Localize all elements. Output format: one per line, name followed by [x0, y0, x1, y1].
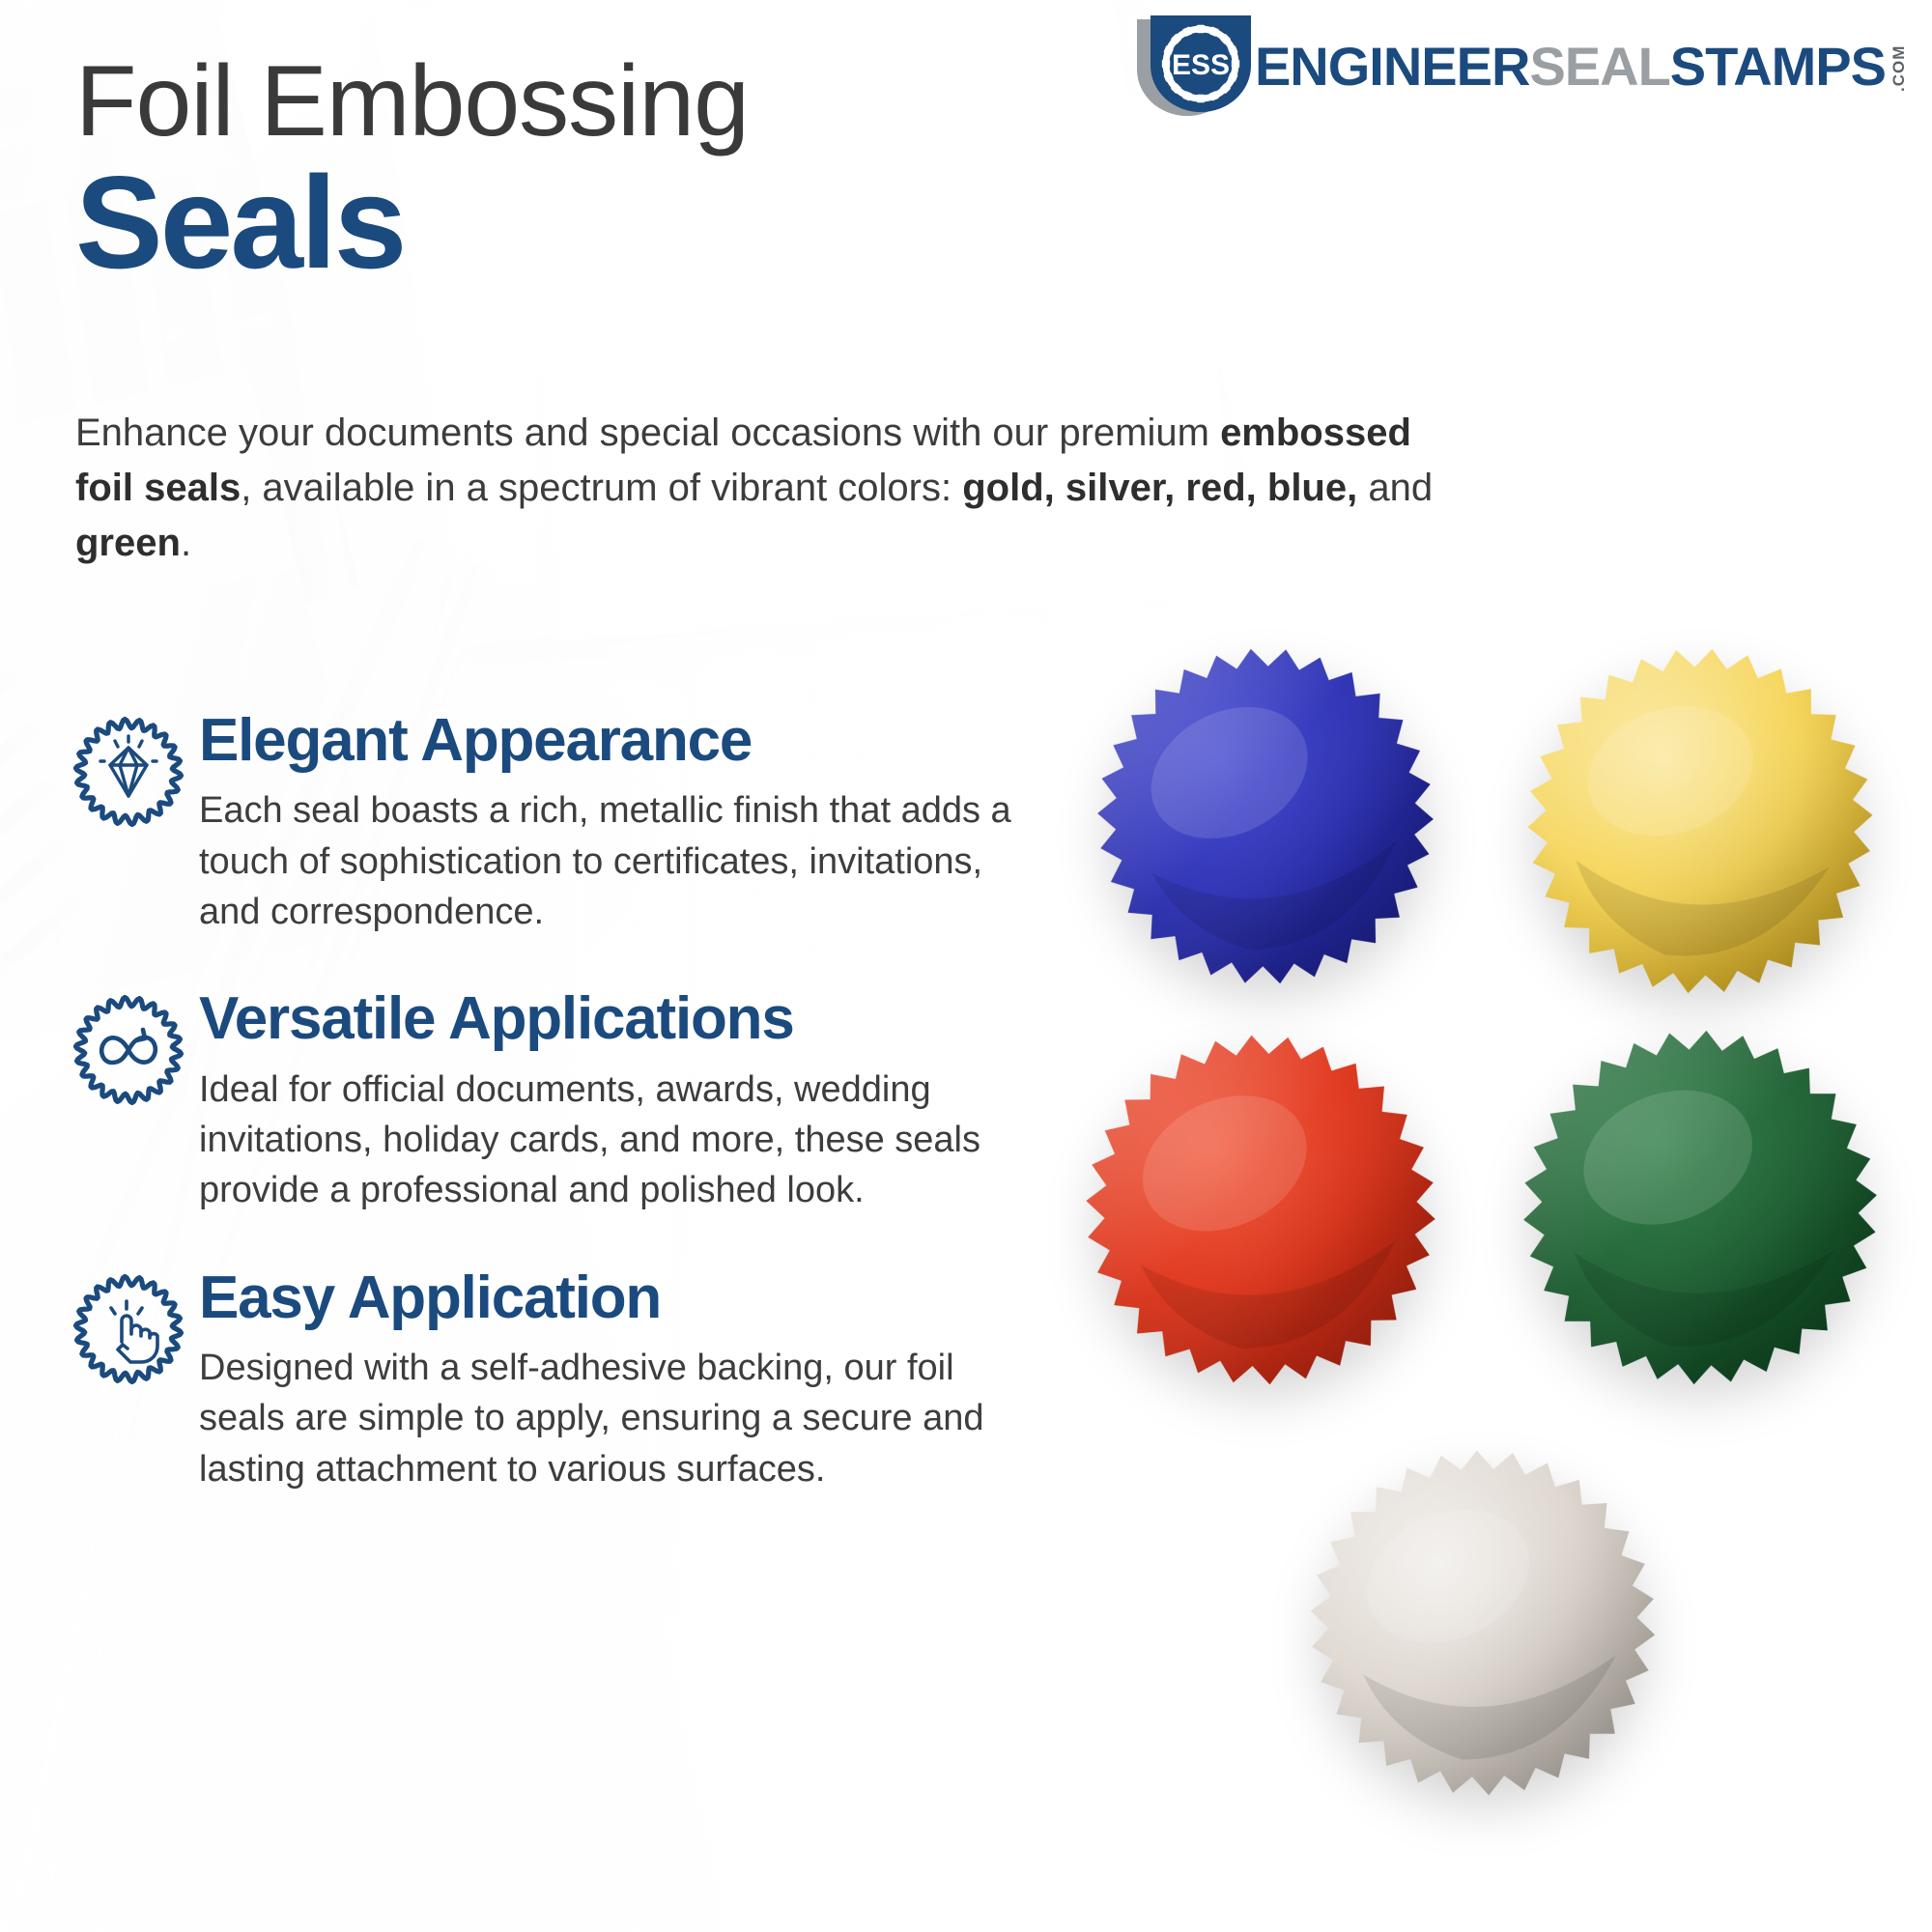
- feature-item: Easy ApplicationDesigned with a self-adh…: [68, 1263, 1063, 1494]
- seal-gallery: [1053, 638, 1922, 1855]
- feature-title: Easy Application: [199, 1266, 1049, 1329]
- intro-text-part-2: , available in a spectrum of vibrant col…: [241, 467, 962, 509]
- feature-body: Elegant AppearanceEach seal boasts a ric…: [199, 705, 1049, 937]
- intro-text-part-1: Enhance your documents and special occas…: [75, 412, 1220, 454]
- feature-body: Versatile ApplicationsIdeal for official…: [199, 983, 1049, 1215]
- infographic-page: ESS ENGINEER SEAL STAMPS .COM Foil Embos…: [0, 0, 1932, 1932]
- logo-word-engineer: ENGINEER: [1255, 40, 1530, 94]
- feature-title: Versatile Applications: [199, 987, 1049, 1050]
- intro-text-part-3: and: [1357, 467, 1433, 509]
- title-line-1: Foil Embossing: [75, 50, 749, 153]
- seal-silver[interactable]: [1288, 1433, 1677, 1812]
- feature-list: Elegant AppearanceEach seal boasts a ric…: [68, 705, 1063, 1494]
- feature-item: Elegant AppearanceEach seal boasts a ric…: [68, 705, 1063, 937]
- seal-red[interactable]: [1063, 1014, 1459, 1406]
- tap-hand-icon: [68, 1268, 189, 1390]
- feature-body: Easy ApplicationDesigned with a self-adh…: [199, 1263, 1049, 1494]
- intro-paragraph: Enhance your documents and special occas…: [75, 406, 1447, 570]
- infinity-loop-icon: [68, 989, 189, 1111]
- ess-shield-logo-icon: ESS: [1137, 15, 1253, 118]
- diamond-icon: [68, 711, 189, 833]
- feature-item: Versatile ApplicationsIdeal for official…: [68, 983, 1063, 1215]
- logo-word-stamps: STAMPS: [1670, 40, 1886, 94]
- logo-tld: .COM: [1889, 42, 1909, 92]
- intro-emphasis-colors-b: green: [75, 522, 181, 564]
- intro-emphasis-colors-a: gold, silver, red, blue,: [962, 467, 1357, 509]
- title-line-2: Seals: [75, 156, 749, 288]
- logo-badge-text: ESS: [1172, 49, 1230, 81]
- shield-front-icon: ESS: [1151, 15, 1251, 112]
- feature-description: Designed with a self-adhesive backing, o…: [199, 1343, 1049, 1494]
- feature-title: Elegant Appearance: [199, 709, 1049, 772]
- intro-text-part-4: .: [181, 522, 191, 564]
- seal-blue[interactable]: [1067, 622, 1464, 1010]
- page-title: Foil Embossing Seals: [75, 50, 749, 288]
- seal-green[interactable]: [1500, 1012, 1899, 1403]
- seal-gold[interactable]: [1494, 625, 1906, 1018]
- feature-description: Ideal for official documents, awards, we…: [199, 1065, 1049, 1216]
- brand-logo[interactable]: ESS ENGINEER SEAL STAMPS .COM: [1137, 15, 1909, 118]
- brand-wordmark: ENGINEER SEAL STAMPS .COM: [1255, 40, 1909, 94]
- feature-description: Each seal boasts a rich, metallic finish…: [199, 785, 1049, 937]
- logo-word-seal: SEAL: [1529, 40, 1669, 94]
